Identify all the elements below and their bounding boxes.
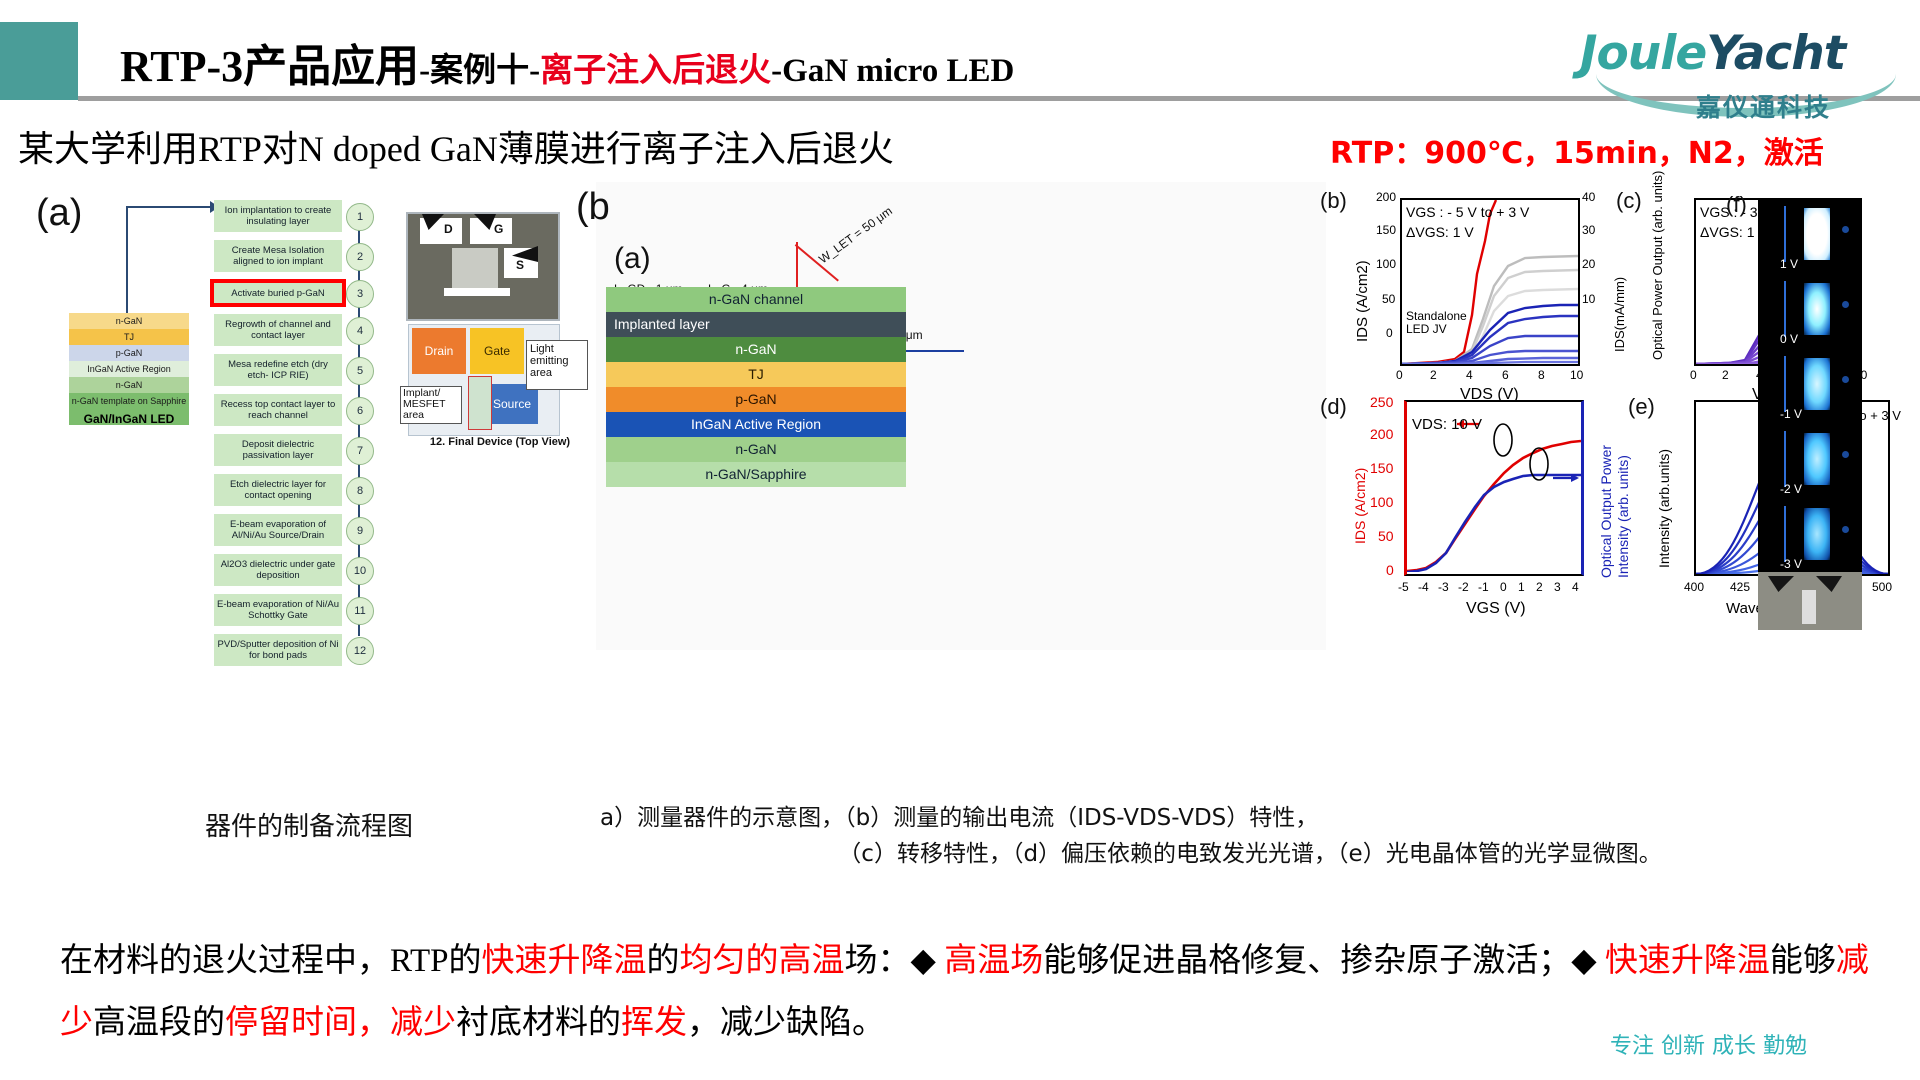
plot-b-annot-delta-vgs: ΔVGS: 1 V bbox=[1406, 224, 1474, 240]
light-emitting-region bbox=[468, 376, 492, 430]
panel-f-letter: (f) bbox=[1726, 192, 1747, 218]
caption-line-2: （c）转移特性，（d）偏压依赖的电致发光光谱，（e）光电晶体管的光学显微图。 bbox=[600, 836, 1900, 872]
concl-r1: 快速升降温 bbox=[482, 943, 647, 979]
title-case: 案例十 bbox=[430, 53, 529, 89]
cross-section-letter: (a) bbox=[614, 242, 651, 276]
plot-d-xtick-4: 4 bbox=[1572, 580, 1579, 594]
photo-probe-right-icon bbox=[1816, 576, 1842, 592]
title-highlight: 离子注入后退火 bbox=[540, 53, 771, 89]
plot-b-ytick-200: 200 bbox=[1376, 190, 1396, 204]
flow-step-6: Recess top contact layer to reach channe… bbox=[214, 394, 342, 426]
micrograph-device-photo bbox=[1758, 572, 1862, 630]
logo-text-yacht: Yacht bbox=[1706, 26, 1845, 81]
led-layer-1: n-GaN bbox=[69, 313, 189, 329]
schematic-gate: Gate bbox=[470, 328, 524, 374]
plot-e-xtick-400: 400 bbox=[1684, 580, 1704, 594]
schematic-source: Source bbox=[486, 384, 538, 424]
logo-chinese-name: 嘉仪通科技 bbox=[1696, 88, 1831, 124]
micro-probe-bar-icon-2 bbox=[1784, 281, 1786, 337]
micrograph-cell-1: 1 V bbox=[1758, 200, 1862, 275]
flow-step-7: Deposit dielectric passivation layer bbox=[214, 434, 342, 466]
led-layer-4: InGaN Active Region bbox=[69, 361, 189, 377]
panel-b-letter: (b bbox=[576, 186, 610, 229]
plot-b-ytick-r-10: 10 bbox=[1582, 292, 1595, 306]
plot-b-ytick-100: 100 bbox=[1376, 257, 1396, 271]
plot-b-annot-standalone: Standalone LED JV bbox=[1406, 310, 1476, 336]
concl-r6: 停留时间，减少 bbox=[225, 1005, 456, 1041]
plot-c-letter: (c) bbox=[1616, 188, 1642, 214]
micro-emission-4 bbox=[1804, 433, 1830, 485]
plot-b-ytick-150: 150 bbox=[1376, 223, 1396, 237]
plot-d-ytick-150: 150 bbox=[1370, 460, 1393, 476]
caption-line-1: a）测量器件的示意图，（b）测量的输出电流（IDS-VDS-VDS）特性， bbox=[600, 805, 1318, 831]
plot-b-ytick-50: 50 bbox=[1382, 292, 1395, 306]
xs-layer-n-gan-channel: n-GaN channel bbox=[606, 287, 906, 312]
header-accent-block bbox=[0, 22, 78, 100]
micrograph-cell-4: -2 V bbox=[1758, 425, 1862, 500]
topview-label-d: D bbox=[444, 222, 453, 236]
photo-device-bar bbox=[1802, 590, 1816, 624]
plot-b-ytick-r-30: 30 bbox=[1582, 223, 1595, 237]
title-dash-2: - bbox=[529, 53, 540, 89]
micro-dot-3 bbox=[1842, 376, 1849, 383]
flow-step-12: PVD/Sputter deposition of Ni for bond pa… bbox=[214, 634, 342, 666]
concl-s9: ，减少缺陷。 bbox=[687, 1005, 885, 1041]
plot-d-ytick-0: 0 bbox=[1386, 562, 1394, 578]
schematic-drain: Drain bbox=[412, 328, 466, 374]
plot-d-ytick-200: 200 bbox=[1370, 426, 1393, 442]
plot-d-xtick--4: -4 bbox=[1418, 580, 1429, 594]
plot-d-ytick-50: 50 bbox=[1378, 528, 1394, 544]
flow-number-10: 10 bbox=[346, 557, 374, 585]
highlight-activate-p-gan bbox=[210, 279, 346, 307]
plot-b-ytick-0: 0 bbox=[1386, 326, 1393, 340]
plot-b-xtick-2: 2 bbox=[1430, 368, 1437, 382]
topview-bar bbox=[444, 288, 510, 296]
plot-b-xtick-6: 6 bbox=[1502, 368, 1509, 382]
concl-s4: 能够促进晶格修复、掺杂 bbox=[1043, 943, 1406, 979]
xs-layer-ingan-active: InGaN Active Region bbox=[606, 412, 906, 437]
concl-s2: 的 bbox=[647, 943, 680, 979]
cross-section-layers: n-GaN channel Implanted layer n-GaN TJ p… bbox=[606, 287, 906, 487]
title-dash-1: - bbox=[419, 53, 430, 89]
micro-probe-bar-icon-5 bbox=[1784, 506, 1786, 562]
flow-step-2: Create Mesa Isolation aligned to ion imp… bbox=[214, 240, 342, 272]
panel-f-micrographs: 1 V 0 V -1 V -2 V -3 V bbox=[1758, 200, 1862, 630]
micro-label-1: 1 V bbox=[1780, 257, 1798, 271]
concl-s3: 场：◆ bbox=[845, 943, 945, 979]
flow-step-1: Ion implantation to create insulating la… bbox=[214, 200, 342, 232]
plot-d-xtick--2: -2 bbox=[1458, 580, 1469, 594]
flowchart-arrow-horizontal bbox=[126, 206, 216, 208]
plot-b-annot-vgs-range: VGS : - 5 V to + 3 V bbox=[1406, 204, 1529, 220]
micrograph-cell-3: -1 V bbox=[1758, 350, 1862, 425]
concl-r2: 均匀的高温 bbox=[680, 943, 845, 979]
plot-d-ylabel: IDS (A/cm2) bbox=[1352, 468, 1368, 544]
micrograph-cell-5: -3 V bbox=[1758, 500, 1862, 575]
flow-number-8: 8 bbox=[346, 477, 374, 505]
concl-s7: 高温段的 bbox=[93, 1005, 225, 1041]
micro-emission-1 bbox=[1804, 208, 1830, 260]
micro-emission-2 bbox=[1804, 283, 1830, 335]
micro-label-4: -2 V bbox=[1780, 482, 1802, 496]
flow-step-9: E-beam evaporation of Al/Ni/Au Source/Dr… bbox=[214, 514, 342, 546]
concl-s8: 衬底材料的 bbox=[456, 1005, 621, 1041]
flow-number-9: 9 bbox=[346, 517, 374, 545]
plot-b-xtick-10: 10 bbox=[1570, 368, 1583, 382]
xs-layer-implanted: Implanted layer bbox=[606, 312, 906, 337]
xs-layer-p-gan: p-GaN bbox=[606, 387, 906, 412]
plot-d-letter: (d) bbox=[1320, 394, 1347, 420]
caption-flowchart: 器件的制备流程图 bbox=[205, 806, 413, 843]
plot-d-xtick--3: -3 bbox=[1438, 580, 1449, 594]
concl-r7: 挥发 bbox=[621, 1005, 687, 1041]
flow-step-8: Etch dielectric layer for contact openin… bbox=[214, 474, 342, 506]
micro-label-5: -3 V bbox=[1780, 557, 1802, 571]
micro-probe-bar-icon bbox=[1784, 206, 1786, 262]
device-top-view-photo: D G S bbox=[406, 212, 560, 321]
topview-label-s: S bbox=[516, 258, 524, 272]
flow-number-1: 1 bbox=[346, 203, 374, 231]
flow-number-2: 2 bbox=[346, 243, 374, 271]
micro-probe-bar-icon-4 bbox=[1784, 431, 1786, 487]
micro-label-2: 0 V bbox=[1780, 332, 1798, 346]
plot-e-ylabel: Intensity (arb.units) bbox=[1656, 449, 1672, 568]
panel-a-flowchart: (a) Ion implantation to create insulatin… bbox=[14, 182, 614, 650]
xs-layer-n-gan: n-GaN bbox=[606, 337, 906, 362]
plot-b-ylabel: IDS (A/cm2) bbox=[1354, 260, 1371, 342]
plot-d-xtick-2: 2 bbox=[1536, 580, 1543, 594]
micro-probe-bar-icon-3 bbox=[1784, 356, 1786, 412]
led-epitaxial-stack: n-GaN TJ p-GaN InGaN Active Region n-GaN… bbox=[69, 313, 189, 425]
plot-c-ylabel: Optical Power Output (arb. units) bbox=[1650, 171, 1665, 360]
panel-b-cross-section: (b (a) L_GD= 1 μm L_G= 4 μm 14 μm L_LED=… bbox=[596, 182, 1326, 650]
plot-b-letter: (b) bbox=[1320, 188, 1347, 214]
title-main: RTP-3产品应用 bbox=[120, 42, 419, 91]
slide-subtitle: 某大学利用RTP对N doped GaN薄膜进行离子注入后退火 bbox=[18, 120, 894, 172]
flow-number-4: 4 bbox=[346, 317, 374, 345]
plot-e-xtick-425: 425 bbox=[1730, 580, 1750, 594]
page-title: RTP-3产品应用-案例十-离子注入后退火-GaN micro LED bbox=[120, 30, 1014, 94]
plot-d-xtick--1: -1 bbox=[1478, 580, 1489, 594]
micrograph-cell-2: 0 V bbox=[1758, 275, 1862, 350]
final-device-schematic: Drain Gate Source Light emitting area Im… bbox=[402, 324, 598, 452]
plot-d-xtick-1: 1 bbox=[1518, 580, 1525, 594]
plot-e-letter: (e) bbox=[1628, 394, 1655, 420]
flow-number-6: 6 bbox=[346, 397, 374, 425]
plot-b-xtick-8: 8 bbox=[1538, 368, 1545, 382]
title-tail: GaN micro LED bbox=[782, 53, 1014, 89]
micro-dot-1 bbox=[1842, 226, 1849, 233]
xs-layer-tj: TJ bbox=[606, 362, 906, 387]
concl-r4: 快速升降温 bbox=[1605, 943, 1770, 979]
plot-c-xtick-2: 2 bbox=[1722, 368, 1729, 382]
concl-s5: 原子激活；◆ bbox=[1406, 943, 1605, 979]
plot-b-xtick-4: 4 bbox=[1466, 368, 1473, 382]
micro-label-3: -1 V bbox=[1780, 407, 1802, 421]
micro-dot-4 bbox=[1842, 451, 1849, 458]
flow-step-11: E-beam evaporation of Ni/Au Schottky Gat… bbox=[214, 594, 342, 626]
micro-dot-2 bbox=[1842, 301, 1849, 308]
photo-probe-left-icon bbox=[1768, 576, 1794, 592]
plot-d-xtick-0: 0 bbox=[1500, 580, 1507, 594]
title-dash-3: - bbox=[771, 53, 782, 89]
flow-step-4: Regrowth of channel and contact layer bbox=[214, 314, 342, 346]
flow-number-11: 11 bbox=[346, 597, 374, 625]
figure-area: (a) Ion implantation to create insulatin… bbox=[0, 182, 1920, 652]
concl-s1: 在材料的退火过程中，RTP的 bbox=[60, 943, 482, 979]
company-logo: JouleYacht 嘉仪通科技 bbox=[1576, 22, 1906, 120]
logo-text-joule: Joule bbox=[1580, 26, 1706, 81]
caption-measurements: a）测量器件的示意图，（b）测量的输出电流（IDS-VDS-VDS）特性， （c… bbox=[600, 800, 1900, 872]
plot-d-annot-vds: VDS: 10 V bbox=[1412, 416, 1482, 433]
plot-d-ytick-100: 100 bbox=[1370, 494, 1393, 510]
watermark-text: 专注 创新 成长 勤勉 bbox=[1610, 1028, 1807, 1060]
plot-d-xlabel: VGS (V) bbox=[1466, 600, 1526, 618]
implant-mesfet-area-label: Implant/ MESFET area bbox=[400, 386, 462, 424]
led-layer-5: n-GaN bbox=[69, 377, 189, 393]
dim-wlet: W_LET = 50 μm bbox=[816, 204, 895, 267]
light-emitting-area-label: Light emitting area bbox=[526, 340, 588, 390]
plot-d-xtick-3: 3 bbox=[1554, 580, 1561, 594]
led-stack-caption: GaN/InGaN LED bbox=[54, 412, 204, 426]
plot-d-ytick-250: 250 bbox=[1370, 394, 1393, 410]
flow-step-10: Al2O3 dielectric under gate deposition bbox=[214, 554, 342, 586]
xs-layer-n-gan-2: n-GaN bbox=[606, 437, 906, 462]
micro-emission-5 bbox=[1804, 508, 1830, 560]
flow-number-7: 7 bbox=[346, 437, 374, 465]
plot-d-xtick--5: -5 bbox=[1398, 580, 1409, 594]
plot-b-ytick-r-40: 40 bbox=[1582, 190, 1595, 204]
topview-mesa bbox=[452, 248, 498, 288]
concl-s6: 能够 bbox=[1770, 943, 1836, 979]
plot-d-transfer: (d) VDS: 10 V 250 200 150 100 50 0 bbox=[1320, 394, 1630, 644]
schematic-caption: 12. Final Device (Top View) bbox=[402, 436, 598, 448]
panel-a-letter: (a) bbox=[36, 192, 82, 235]
micro-dot-5 bbox=[1842, 526, 1849, 533]
flow-number-5: 5 bbox=[346, 357, 374, 385]
led-layer-2: TJ bbox=[69, 329, 189, 345]
flow-number-3: 3 bbox=[346, 280, 374, 308]
topview-label-g: G bbox=[494, 222, 503, 236]
plot-c-xtick-0: 0 bbox=[1690, 368, 1697, 382]
flow-number-12: 12 bbox=[346, 637, 374, 665]
flow-step-5: Mesa redefine etch (dry etch- ICP RIE) bbox=[214, 354, 342, 386]
logo-wordmark: JouleYacht bbox=[1580, 26, 1845, 81]
plot-e-xtick-500: 500 bbox=[1872, 580, 1892, 594]
micro-emission-3 bbox=[1804, 358, 1830, 410]
plot-b-ytick-r-20: 20 bbox=[1582, 257, 1595, 271]
led-layer-3: p-GaN bbox=[69, 345, 189, 361]
rtp-parameters: RTP：900℃，15min，N2，激活 bbox=[1330, 128, 1824, 172]
xs-layer-sapphire: n-GaN/Sapphire bbox=[606, 462, 906, 487]
plot-b-xtick-0: 0 bbox=[1396, 368, 1403, 382]
concl-r3: 高温场 bbox=[944, 943, 1043, 979]
plot-b-output-characteristics: (b) VGS : - 5 V to + 3 V ΔVGS: 1 V Stand bbox=[1320, 182, 1620, 412]
